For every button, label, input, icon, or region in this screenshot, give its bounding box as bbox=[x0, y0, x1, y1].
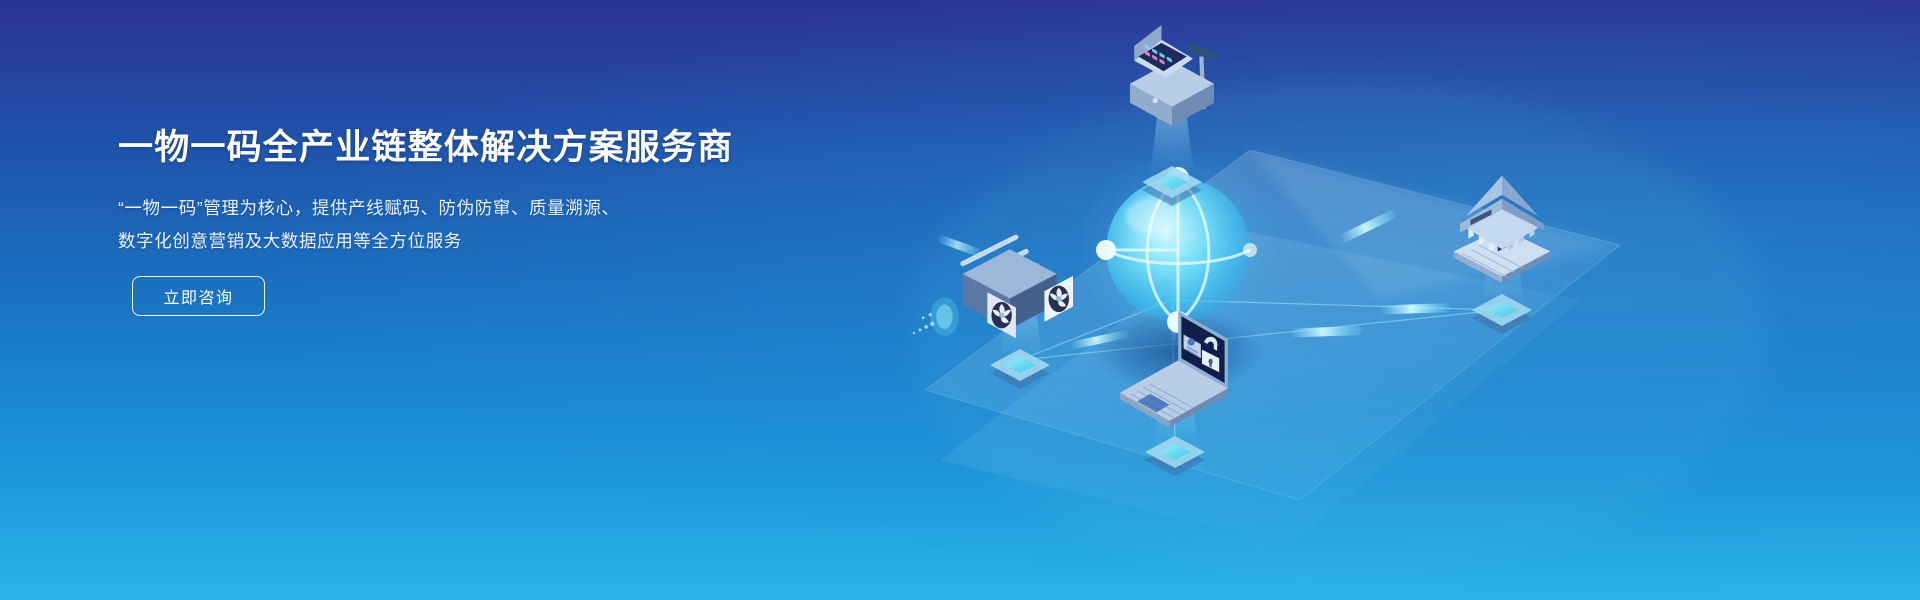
illustration-area bbox=[820, 0, 1920, 600]
consult-now-button[interactable]: 立即咨询 bbox=[132, 276, 265, 316]
hero-banner: 一物一码全产业链整体解决方案服务商 “一物一码”管理为核心，提供产线赋码、防伪防… bbox=[0, 0, 1920, 600]
subtitle-line-2: 数字化创意营销及大数据应用等全方位服务 bbox=[118, 225, 818, 258]
subtitle-block: “一物一码”管理为核心，提供产线赋码、防伪防窜、质量溯源、 数字化创意营销及大数… bbox=[118, 192, 818, 258]
hero-copy: 一物一码全产业链整体解决方案服务商 “一物一码”管理为核心，提供产线赋码、防伪防… bbox=[118, 126, 818, 258]
subtitle-line-1: “一物一码”管理为核心，提供产线赋码、防伪防窜、质量溯源、 bbox=[118, 192, 818, 225]
page-title: 一物一码全产业链整体解决方案服务商 bbox=[118, 126, 818, 170]
